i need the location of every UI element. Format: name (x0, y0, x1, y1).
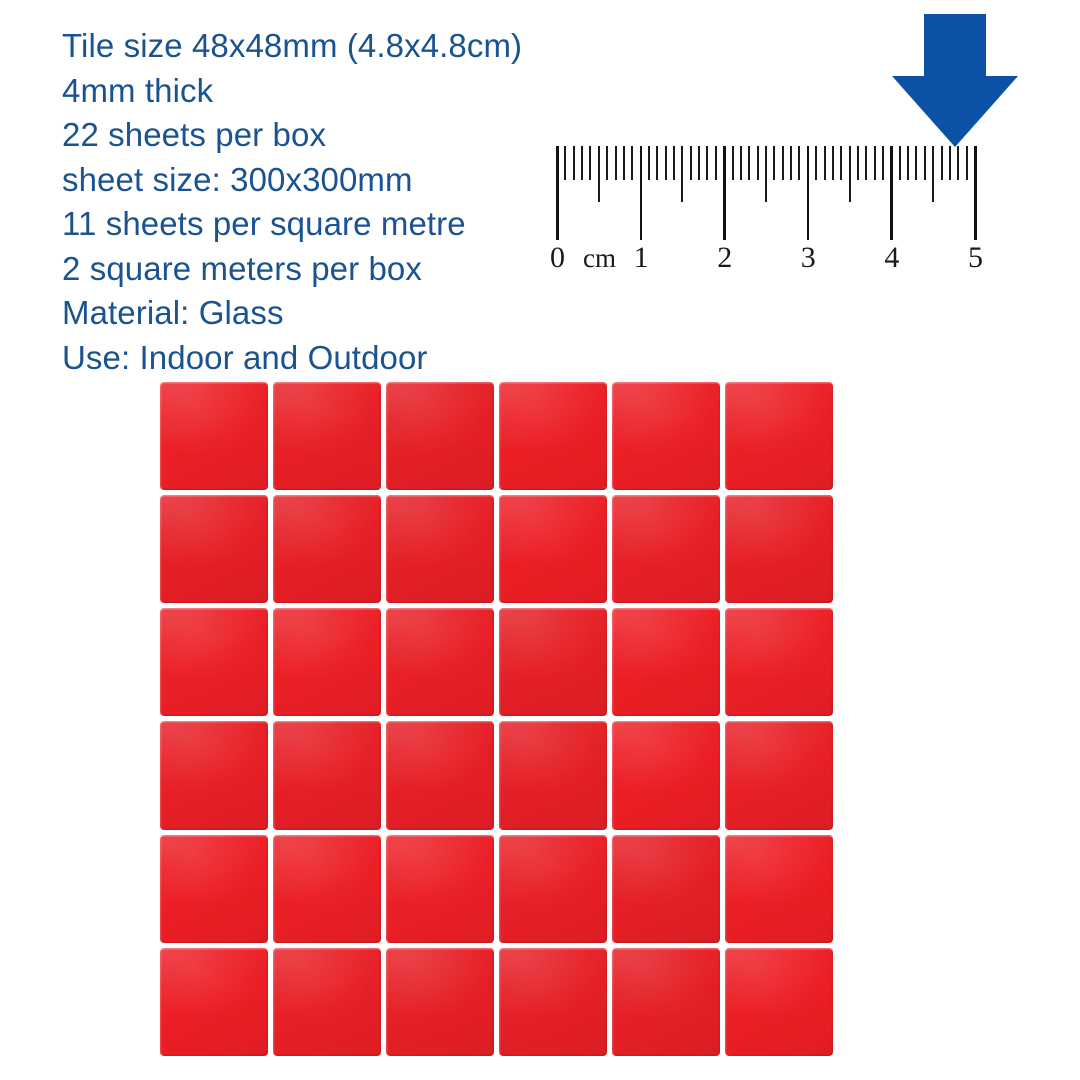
mosaic-tile (273, 835, 381, 943)
ruler-tick-minor (681, 146, 683, 202)
ruler-tick-major (556, 146, 559, 240)
ruler-tick-minor (606, 146, 608, 180)
ruler-tick-minor (966, 146, 968, 180)
mosaic-tile (499, 382, 607, 490)
spec-line-tile-size: Tile size 48x48mm (4.8x4.8cm) (62, 24, 582, 69)
ruler-unit-label: cm (583, 240, 616, 276)
ruler-tick-minor (740, 146, 742, 180)
ruler-tick-minor (957, 146, 959, 180)
ruler-tick-minor (949, 146, 951, 180)
mosaic-tile (725, 835, 833, 943)
ruler-tick-major (723, 146, 726, 240)
ruler-tick-minor (941, 146, 943, 180)
ruler-tick-minor (623, 146, 625, 180)
ruler-tick-minor (698, 146, 700, 180)
mosaic-tile (273, 608, 381, 716)
ruler-label-3: 3 (801, 240, 816, 276)
ruler-tick-minor (907, 146, 909, 180)
ruler-tick-minor (865, 146, 867, 180)
ruler-tick-major (640, 146, 643, 240)
mosaic-tile (160, 835, 268, 943)
ruler-tick-minor (857, 146, 859, 180)
ruler-label-2: 2 (717, 240, 732, 276)
spec-line-sheets-per-box: 22 sheets per box (62, 113, 582, 158)
mosaic-tile (612, 948, 720, 1056)
spec-line-sqm-per-box: 2 square meters per box (62, 247, 582, 292)
ruler-tick-minor (915, 146, 917, 180)
mosaic-tile (273, 721, 381, 829)
ruler-tick-minor (757, 146, 759, 180)
ruler-tick-minor (656, 146, 658, 180)
ruler-tick-minor (874, 146, 876, 180)
mosaic-tile (273, 382, 381, 490)
mosaic-tile (160, 948, 268, 1056)
ruler-tick-major (807, 146, 810, 240)
ruler-tick-minor (581, 146, 583, 180)
ruler-tick-minor (773, 146, 775, 180)
spec-line-thickness: 4mm thick (62, 69, 582, 114)
spec-line-sheet-size: sheet size: 300x300mm (62, 158, 582, 203)
ruler-label-1: 1 (634, 240, 649, 276)
ruler-tick-major (890, 146, 893, 240)
ruler-tick-minor (615, 146, 617, 180)
ruler-tick-minor (882, 146, 884, 180)
ruler-tick-minor (782, 146, 784, 180)
ruler-tick-minor (840, 146, 842, 180)
arrow-down-icon (886, 14, 1022, 148)
mosaic-tile (386, 608, 494, 716)
ruler-tick-minor (690, 146, 692, 180)
mosaic-tile (160, 382, 268, 490)
ruler-tick-minor (564, 146, 566, 180)
tile-sheet-grid (160, 382, 833, 1056)
mosaic-tile (499, 608, 607, 716)
ruler: 012345cm (556, 146, 986, 276)
mosaic-tile (612, 495, 720, 603)
ruler-tick-minor (706, 146, 708, 180)
ruler-tick-minor (849, 146, 851, 202)
ruler-tick-minor (673, 146, 675, 180)
ruler-label-0: 0 (550, 240, 565, 276)
ruler-tick-minor (765, 146, 767, 202)
ruler-tick-major (974, 146, 977, 240)
mosaic-tile (725, 495, 833, 603)
spec-line-material: Material: Glass (62, 291, 582, 336)
ruler-tick-minor (832, 146, 834, 180)
spec-line-sheets-per-sqm: 11 sheets per square metre (62, 202, 582, 247)
ruler-tick-minor (732, 146, 734, 180)
mosaic-tile (725, 721, 833, 829)
mosaic-tile (499, 948, 607, 1056)
ruler-tick-minor (598, 146, 600, 202)
mosaic-tile (612, 608, 720, 716)
ruler-tick-minor (798, 146, 800, 180)
mosaic-tile (273, 495, 381, 603)
mosaic-tile (386, 495, 494, 603)
mosaic-tile (499, 495, 607, 603)
mosaic-tile (499, 835, 607, 943)
ruler-tick-minor (589, 146, 591, 180)
ruler-ticks (556, 146, 986, 246)
mosaic-tile (725, 948, 833, 1056)
ruler-tick-minor (573, 146, 575, 180)
ruler-tick-minor (790, 146, 792, 180)
ruler-tick-minor (665, 146, 667, 180)
ruler-tick-minor (648, 146, 650, 180)
mosaic-tile (386, 382, 494, 490)
ruler-tick-minor (924, 146, 926, 180)
ruler-tick-minor (631, 146, 633, 180)
mosaic-tile (160, 721, 268, 829)
ruler-tick-minor (815, 146, 817, 180)
ruler-labels: 012345cm (556, 240, 986, 280)
ruler-tick-minor (824, 146, 826, 180)
mosaic-tile (725, 608, 833, 716)
ruler-tick-minor (748, 146, 750, 180)
mosaic-tile (160, 495, 268, 603)
ruler-tick-minor (899, 146, 901, 180)
specification-list: Tile size 48x48mm (4.8x4.8cm) 4mm thick … (62, 24, 582, 380)
mosaic-tile (160, 608, 268, 716)
spec-line-use: Use: Indoor and Outdoor (62, 336, 582, 381)
mosaic-tile (386, 721, 494, 829)
ruler-label-4: 4 (884, 240, 899, 276)
mosaic-tile (273, 948, 381, 1056)
mosaic-tile (725, 382, 833, 490)
mosaic-tile (612, 382, 720, 490)
mosaic-tile (386, 948, 494, 1056)
ruler-label-5: 5 (968, 240, 983, 276)
ruler-tick-minor (932, 146, 934, 202)
mosaic-tile (612, 721, 720, 829)
ruler-tick-minor (715, 146, 717, 180)
mosaic-tile (499, 721, 607, 829)
mosaic-tile (386, 835, 494, 943)
mosaic-tile (612, 835, 720, 943)
